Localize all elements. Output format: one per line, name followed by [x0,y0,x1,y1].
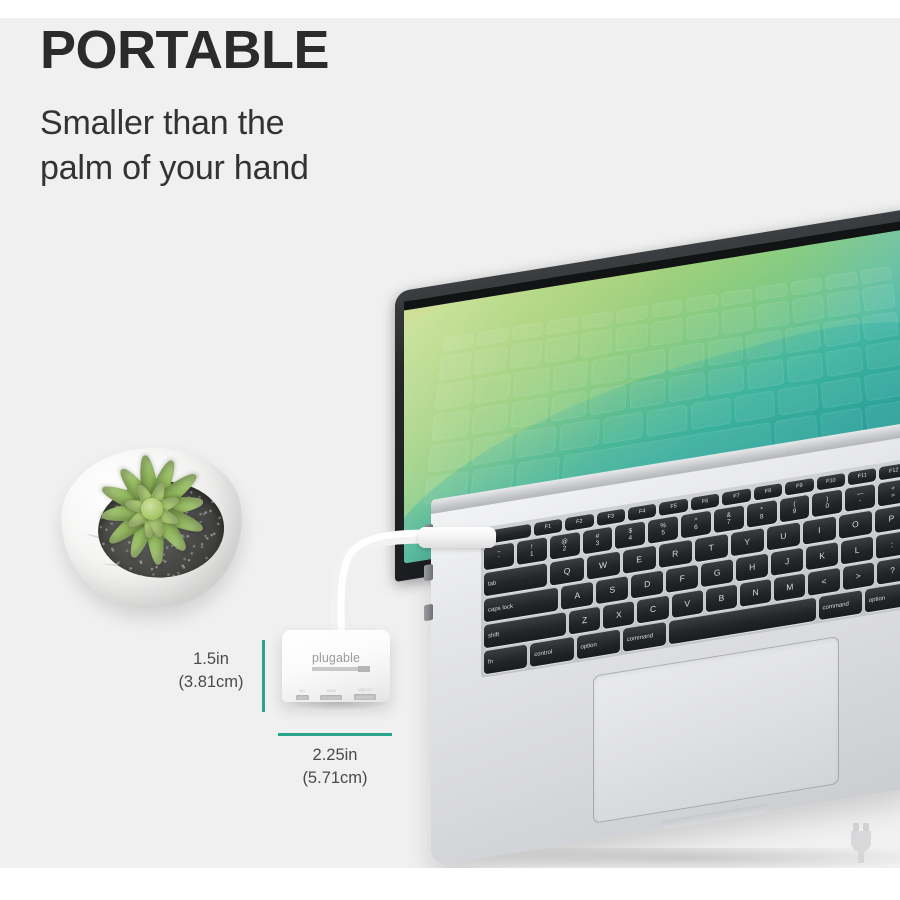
key--[interactable]: —- [845,484,875,512]
key-option[interactable]: option [577,629,620,659]
key-f6[interactable]: F6 [691,493,719,511]
reflection-key [862,311,900,341]
brand-logo: plugable [282,652,390,671]
product-marketing-image: PORTABLE Smaller than the palm of your h… [0,0,900,900]
reflection-key [651,317,683,346]
key-f9[interactable]: F9 [785,478,813,496]
brand-wordmark: plugable [282,652,390,665]
key-5[interactable]: %5 [648,516,678,544]
key-f[interactable]: F [666,565,698,593]
page-subtitle: Smaller than the palm of your hand [40,101,329,191]
key-4[interactable]: $4 [615,521,645,549]
key-v[interactable]: V [672,590,703,618]
key-lower: 2 [563,546,567,553]
key-b[interactable]: B [706,584,737,612]
key-lower: 5 [661,530,665,537]
key-r[interactable]: R [659,540,692,568]
key-u[interactable]: U [767,522,800,550]
trackpad[interactable] [593,636,839,824]
key-h[interactable]: H [736,553,768,581]
key-lower: 0 [826,504,830,511]
key-command[interactable]: command [623,622,666,652]
succulent-center [141,498,163,520]
key-j[interactable]: J [771,548,803,576]
height-imperial: 1.5in [168,648,254,671]
reflection-key [552,361,588,391]
key-q[interactable]: Q [550,557,583,585]
reflection-key [515,426,556,459]
key--[interactable]: > [843,562,874,590]
key-f4[interactable]: F4 [628,503,656,521]
reflection-key [509,340,542,369]
reflection-key [471,403,509,434]
height-dimension-label: 1.5in (3.81cm) [168,648,254,694]
key-option[interactable]: option [865,583,900,613]
key-l[interactable]: L [841,536,873,564]
key-x[interactable]: X [603,601,634,629]
key-command[interactable]: command [819,590,862,620]
reflection-key [669,372,705,403]
key-lower: 3 [596,541,600,548]
subtitle-line-2: palm of your hand [40,146,329,191]
page-title: PORTABLE [40,22,329,79]
subtitle-line-1: Smaller than the [40,101,329,146]
key-2[interactable]: @2 [550,532,580,560]
key-m[interactable]: M [774,573,805,601]
key-f11[interactable]: F11 [848,468,876,486]
key-p[interactable]: P [875,505,900,533]
reflection-key [746,330,782,360]
bottom-white-strip [0,868,900,900]
key-0[interactable]: )0 [812,489,842,517]
key-lower: - [859,498,861,505]
succulent-plant [52,404,252,614]
top-white-strip [0,0,900,18]
key--[interactable]: ? [877,557,900,585]
key-n[interactable]: N [740,579,771,607]
reflection-key [629,378,665,409]
key-lower: 6 [694,525,698,532]
reflection-key [691,398,731,430]
reflection-key [630,349,665,379]
key-z[interactable]: Z [569,607,600,635]
key-s[interactable]: S [596,576,628,604]
logo-block [358,666,370,672]
dc-port-label: DC [296,689,309,693]
reflection-key [545,334,578,363]
usb3-port-slot [354,694,376,700]
key-6[interactable]: ^6 [681,511,711,539]
width-metric: (5.71cm) [278,767,392,790]
key-7[interactable]: &7 [714,505,744,533]
width-measure-bar [278,733,392,736]
key-k[interactable]: K [806,542,838,570]
key-f1[interactable]: F1 [534,519,562,537]
key-lower: 7 [727,519,731,526]
reflection-key [785,324,822,354]
reflection-key [428,440,470,473]
key-lower: 9 [793,509,797,516]
reflection-key [474,346,508,375]
reflection-key [864,370,900,402]
key-lower: = [891,493,895,500]
reflection-key [823,317,860,347]
reflection-key [686,312,718,341]
reflection-key [550,391,587,422]
height-measure-bar [262,640,265,712]
key-f3[interactable]: F3 [597,509,625,527]
key-8[interactable]: *8 [747,500,777,528]
key--[interactable]: : [876,531,900,559]
headline-block: PORTABLE Smaller than the palm of your h… [40,22,329,190]
key-1[interactable]: !1 [517,537,547,565]
succulent-rosette [52,404,252,614]
reflection-key [821,377,863,409]
reflection-key [862,283,896,311]
key-f7[interactable]: F7 [722,488,750,506]
reflection-key [591,355,627,385]
key-f2[interactable]: F2 [565,514,593,532]
reflection-key [734,391,775,423]
key-f8[interactable]: F8 [754,483,782,501]
reflection-key [707,336,743,366]
key-e[interactable]: E [623,546,656,574]
reflection-key [827,289,861,317]
hdmi-port-label: HDMI [320,689,342,693]
hdmi-port[interactable]: HDMI [320,689,342,700]
reflection-key [431,410,469,441]
usb3-port[interactable]: USB 3.0 [354,688,376,700]
reflection-key [513,367,550,397]
reflection-key [777,384,818,416]
key-c[interactable]: C [637,596,668,624]
usb-icon-svg [848,822,874,864]
key-o[interactable]: O [839,511,872,539]
hub-body: plugable DC HDMI USB 3.0 [282,630,390,702]
logo-bar [312,667,360,671]
width-imperial: 2.25in [278,744,392,767]
key-y[interactable]: Y [731,528,764,556]
reflection-key [722,306,754,335]
usb-connector-icon [848,822,874,864]
reflection-key [669,342,704,372]
key-d[interactable]: D [631,570,663,598]
width-dimension-label: 2.25in (5.71cm) [278,744,392,790]
key-f5[interactable]: F5 [659,498,687,516]
key-g[interactable]: G [701,559,733,587]
usb-c-connector [418,527,496,548]
reflection-key [747,359,784,390]
key--[interactable]: < [808,568,839,596]
key-lower: 8 [760,514,764,521]
reflection-key [786,353,823,384]
key-i[interactable]: I [803,516,836,544]
key--[interactable]: += [878,479,900,507]
reflection-key [580,329,612,358]
height-metric: (3.81cm) [168,671,254,694]
key-f10[interactable]: F10 [817,473,845,491]
reflection-key [435,380,473,411]
reflection-key [603,412,643,445]
reflection-key [647,405,687,437]
reflection-key [825,346,863,377]
key-lower: 1 [530,551,534,558]
key-f12[interactable]: F12 [879,463,900,481]
reflection-key [708,365,744,396]
reflection-key [590,384,626,415]
reflection-key [438,351,472,380]
plugable-usb-hub: plugable DC HDMI USB 3.0 [282,630,390,712]
reflection-key [474,374,511,404]
reflection-key [472,433,514,466]
reflection-key [864,340,900,371]
hdmi-port-slot [320,695,342,700]
reflection-key [792,295,825,324]
hub-port-row: DC HDMI USB 3.0 [282,684,390,702]
reflection-key [757,300,790,329]
key-t[interactable]: T [695,534,728,562]
key-3[interactable]: #3 [583,527,613,555]
key-w[interactable]: W [587,551,620,579]
dc-power-port[interactable]: DC [296,689,309,700]
key-lower: 4 [628,535,632,542]
key-9[interactable]: (9 [780,495,810,523]
dc-port-slot [296,695,309,700]
reflection-key [616,323,648,352]
key-control[interactable]: control [530,637,573,667]
reflection-key [559,419,600,452]
reflection-key [511,397,548,428]
key-a[interactable]: A [561,582,593,610]
usb3-port-label: USB 3.0 [354,688,376,692]
